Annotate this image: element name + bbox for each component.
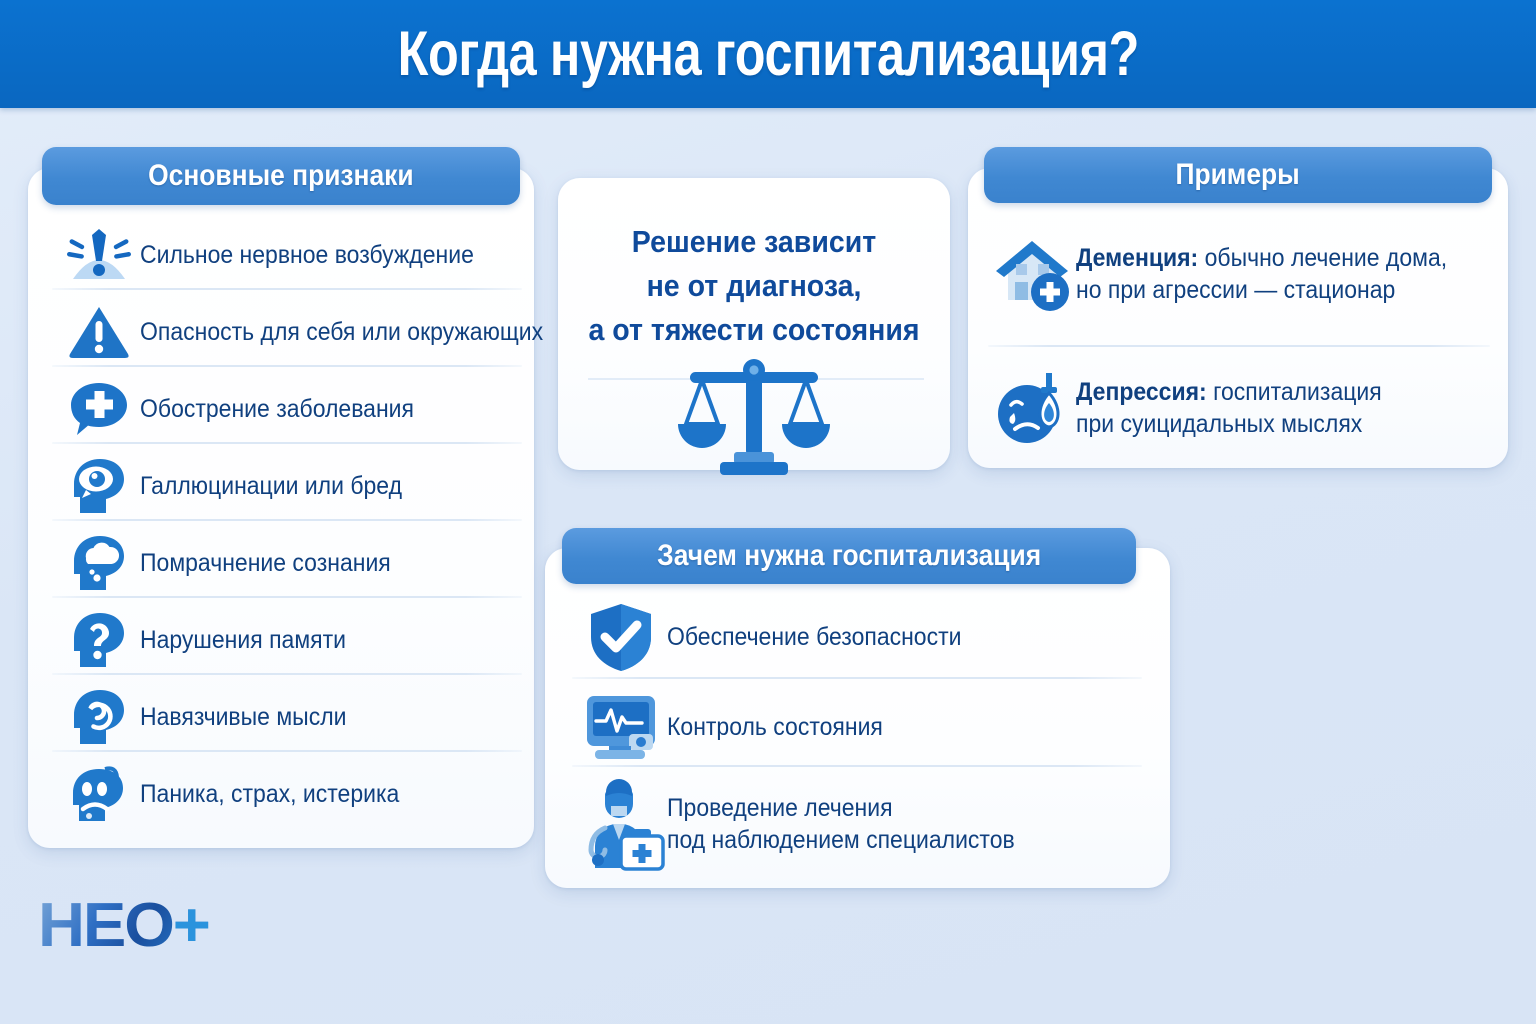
example-item-2-text: Депрессия: госпитализацияпри суицидальны… [1076, 376, 1451, 440]
why-item-1[interactable]: Обеспечение безопасности [575, 600, 1155, 674]
logo-text: НЕО [38, 891, 173, 960]
why-panel-title: Зачем нужна госпитализация [657, 539, 1041, 573]
why-item-2[interactable]: Контроль состояния [575, 690, 1155, 764]
example-item-1-rest: обычно лечение дома, [1198, 244, 1447, 272]
page-title: Когда нужна госпитализация? [397, 18, 1138, 90]
example-item-1-bold: Деменция: [1076, 244, 1198, 272]
why-item-2-label: Контроль состояния [667, 711, 883, 743]
example-item-1-text: Деменция: обычно лечение дома,но при агр… [1076, 242, 1451, 306]
decision-quote: Решение зависит не от диагноза, а от тяж… [558, 220, 950, 352]
why-divider-2 [572, 765, 1142, 767]
signs-divider-1 [52, 288, 522, 290]
decision-line-1: Решение зависит [574, 220, 935, 264]
why-item-3-text: Проведение леченияпод наблюдением специа… [667, 792, 1099, 856]
sign-item-7-label: Навязчивые мысли [140, 701, 346, 733]
example-item-1[interactable]: Деменция: обычно лечение дома,но при агр… [990, 228, 1500, 320]
balance-scales-icon [672, 352, 836, 482]
why-item-3-label2: под наблюдением специалистов [667, 826, 1015, 854]
page-header: Когда нужна госпитализация? [0, 0, 1536, 108]
sign-item-8-label: Паника, страх, истерика [140, 778, 399, 810]
decision-line-2: не от диагноза, [574, 264, 935, 308]
why-item-3-label: Проведение лечения [667, 794, 893, 822]
head-panic-face-icon [58, 763, 140, 825]
signs-divider-7 [52, 750, 522, 752]
signs-panel-title: Основные признаки [148, 159, 414, 193]
sign-item-7[interactable]: Навязчивые мысли [58, 685, 528, 749]
example-item-2-rest: госпитализация [1207, 378, 1382, 406]
sad-face-drop-icon [990, 368, 1076, 448]
sign-item-5[interactable]: Помрачнение сознания [58, 531, 528, 595]
why-panel-header: Зачем нужна госпитализация [562, 528, 1136, 584]
example-item-2[interactable]: Депрессия: госпитализацияпри суицидальны… [990, 362, 1500, 454]
decision-line-3: а от тяжести состояния [574, 308, 935, 352]
examples-panel-title: Примеры [1176, 158, 1300, 192]
ecg-monitor-icon [575, 691, 667, 763]
shield-check-icon [575, 601, 667, 673]
why-divider-1 [572, 677, 1142, 679]
house-medical-icon [990, 234, 1076, 314]
examples-divider-1 [988, 345, 1490, 347]
why-item-3[interactable]: Проведение леченияпод наблюдением специа… [575, 776, 1155, 872]
why-item-1-label: Обеспечение безопасности [667, 621, 961, 653]
example-item-2-line2: при суицидальных мыслях [1076, 410, 1362, 438]
head-cloud-icon [58, 532, 140, 594]
logo-plus-icon: + [173, 891, 209, 960]
warning-triangle-icon [58, 303, 140, 361]
examples-panel-header: Примеры [984, 147, 1492, 203]
signs-divider-3 [52, 442, 522, 444]
sign-item-3[interactable]: Обострение заболевания [58, 377, 528, 441]
signs-divider-6 [52, 673, 522, 675]
example-item-1-line2: но при агрессии — стационар [1076, 276, 1395, 304]
infographic-root: Когда нужна госпитализация? Основные при… [0, 0, 1536, 1024]
sign-item-1-label: Сильное нервное возбуждение [140, 239, 474, 271]
exclamation-burst-icon [58, 224, 140, 286]
head-spiral-icon [58, 686, 140, 748]
sign-item-2[interactable]: Опасность для себя или окружающих [58, 300, 528, 364]
signs-divider-2 [52, 365, 522, 367]
doctor-kit-icon [575, 776, 667, 872]
brand-logo[interactable]: НЕО+ [38, 890, 209, 961]
sign-item-6-label: Нарушения памяти [140, 624, 346, 656]
sign-item-1[interactable]: Сильное нервное возбуждение [58, 222, 528, 288]
signs-panel-header: Основные признаки [42, 147, 520, 205]
sign-item-8[interactable]: Паника, страх, истерика [58, 762, 528, 826]
sign-item-2-label: Опасность для себя или окружающих [140, 316, 543, 348]
head-question-icon [58, 609, 140, 671]
example-item-2-bold: Депрессия: [1076, 378, 1207, 406]
signs-divider-4 [52, 519, 522, 521]
sign-item-3-label: Обострение заболевания [140, 393, 414, 425]
sign-item-4-label: Галлюцинации или бред [140, 470, 402, 502]
signs-divider-5 [52, 596, 522, 598]
sign-item-4[interactable]: Галлюцинации или бред [58, 454, 528, 518]
sign-item-5-label: Помрачнение сознания [140, 547, 391, 579]
sign-item-6[interactable]: Нарушения памяти [58, 608, 528, 672]
head-eye-icon [58, 455, 140, 517]
speech-bubble-cross-icon [58, 379, 140, 439]
